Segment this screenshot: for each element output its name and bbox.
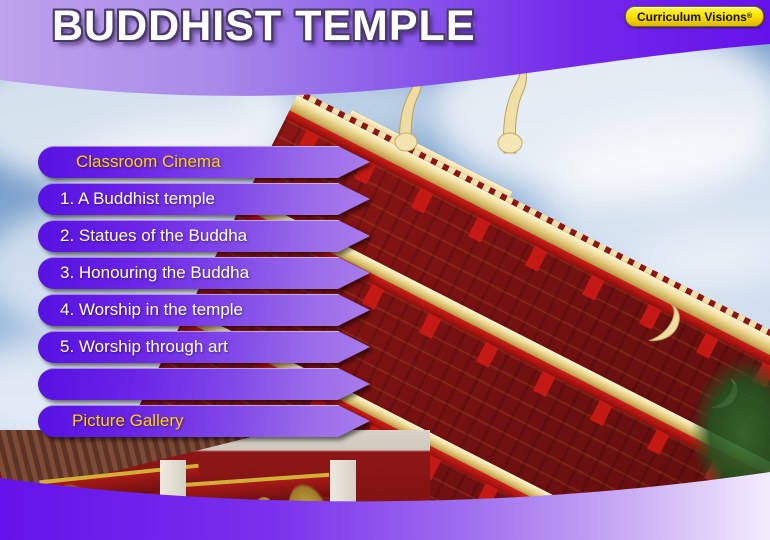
menu-item-picture-gallery[interactable]: Picture Gallery — [38, 405, 378, 436]
menu-item-3-honouring-the-buddha[interactable]: 3. Honouring the Buddha — [38, 257, 378, 288]
page-title: BUDDHIST TEMPLE — [52, 2, 476, 51]
logo-trademark-icon: ® — [747, 13, 752, 20]
menu-item-classroom-cinema[interactable]: Classroom Cinema — [38, 146, 378, 177]
menu-item-label: 3. Honouring the Buddha — [38, 263, 249, 283]
button-background — [38, 368, 370, 400]
menu-item-label: 4. Worship in the temple — [38, 300, 243, 320]
bottom-banner — [0, 466, 770, 540]
menu-item-5-worship-through-art[interactable]: 5. Worship through art — [38, 331, 378, 362]
menu-item-2-statues-of-the-buddha[interactable]: 2. Statues of the Buddha — [38, 220, 378, 251]
menu-item-label: Picture Gallery — [38, 411, 183, 431]
menu-item-label: 2. Statues of the Buddha — [38, 226, 247, 246]
menu-item-1-a-buddhist-temple[interactable]: 1. A Buddhist temple — [38, 183, 378, 214]
menu-item-label: 1. A Buddhist temple — [38, 189, 215, 209]
menu-item-label: 5. Worship through art — [38, 337, 228, 357]
logo-text: Curriculum Visions — [637, 10, 747, 24]
curriculum-visions-logo[interactable]: Curriculum Visions® — [625, 6, 764, 27]
menu-item-blank[interactable] — [38, 368, 378, 399]
slide-root: BUDDHIST TEMPLE Curriculum Visions® Clas… — [0, 0, 770, 540]
main-menu: Classroom Cinema 1. A Buddhist temple 2.… — [38, 146, 378, 442]
menu-item-label: Classroom Cinema — [38, 152, 221, 172]
menu-item-4-worship-in-the-temple[interactable]: 4. Worship in the temple — [38, 294, 378, 325]
